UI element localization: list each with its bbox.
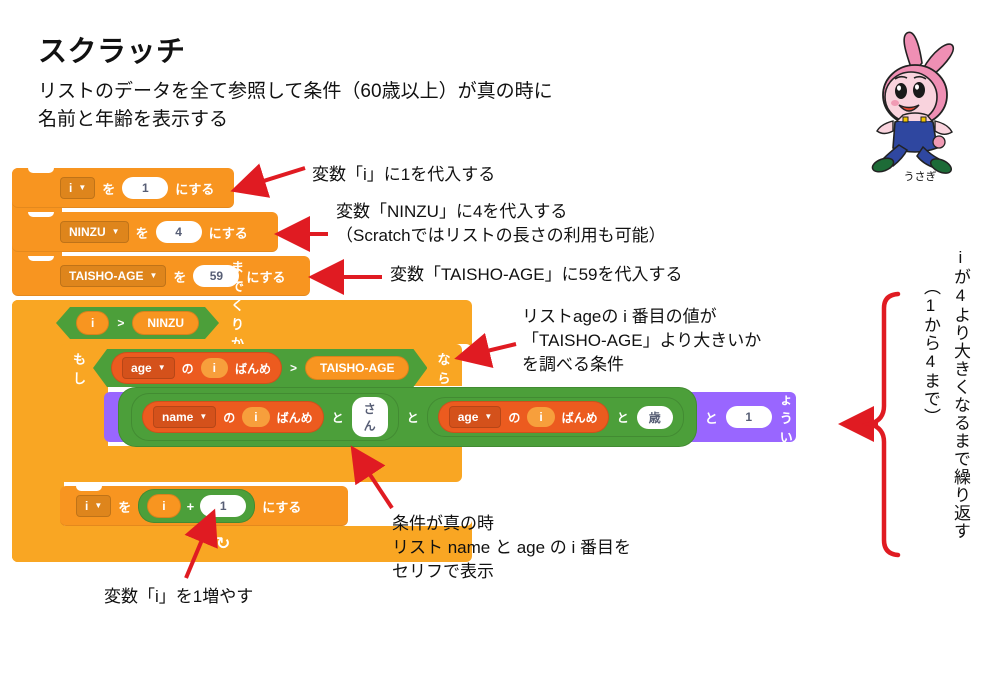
label-banme: ばんめ bbox=[562, 409, 598, 426]
input-text-sai[interactable]: 歳 bbox=[637, 406, 673, 429]
label-no: の bbox=[508, 409, 520, 426]
dropdown-label: age bbox=[458, 410, 479, 424]
operator-add[interactable]: i + 1 bbox=[138, 489, 255, 523]
repeat-until-header: i > NINZU までくりかえす bbox=[56, 306, 251, 340]
dropdown-variable-i[interactable]: i ▼ bbox=[60, 177, 95, 199]
block-set-i-plus-one[interactable]: i ▼ を i + 1 にする bbox=[60, 486, 348, 526]
operator-symbol-plus: + bbox=[187, 499, 195, 514]
dropdown-label: name bbox=[162, 410, 193, 424]
dropdown-label: TAISHO-AGE bbox=[69, 269, 143, 283]
label-wo: を bbox=[102, 179, 115, 198]
chevron-down-icon: ▼ bbox=[149, 272, 157, 280]
label-to: と bbox=[332, 409, 344, 426]
variable-ninzu-oval[interactable]: NINZU bbox=[132, 311, 199, 335]
variable-i-oval[interactable]: i bbox=[76, 311, 109, 335]
mascot-label: うさぎ bbox=[855, 168, 985, 184]
chevron-down-icon: ▼ bbox=[158, 364, 166, 372]
dropdown-label: i bbox=[69, 181, 72, 195]
operator-greater-than-loop[interactable]: i > NINZU bbox=[56, 307, 219, 339]
label-to-outer: と bbox=[705, 408, 718, 427]
label-nisuru: にする bbox=[262, 497, 301, 516]
block-notch bbox=[76, 486, 102, 491]
label-banme: ばんめ bbox=[235, 360, 271, 377]
index-i[interactable]: i bbox=[201, 358, 228, 378]
reporter-list-name-item[interactable]: name ▼ の i ばんめ bbox=[142, 401, 324, 433]
operator-join-inner[interactable]: name ▼ の i ばんめ と さん bbox=[131, 393, 399, 441]
dropdown-list-age[interactable]: age ▼ bbox=[122, 357, 175, 379]
label-wo: を bbox=[136, 223, 149, 242]
input-addend[interactable]: 1 bbox=[200, 495, 246, 517]
input-value-ninzu[interactable]: 4 bbox=[156, 221, 202, 243]
operator-greater-than-condition[interactable]: age ▼ の i ばんめ > TAISHO-AGE bbox=[93, 349, 427, 387]
input-seconds[interactable]: 1 bbox=[726, 406, 772, 428]
block-set-taisho-age[interactable]: TAISHO-AGE ▼ を 59 にする bbox=[12, 256, 310, 296]
annotation-condition: リストageの i 番目の値が 「TAISHO-AGE」より大きいか を調べる条… bbox=[522, 305, 761, 377]
dropdown-variable-ninzu[interactable]: NINZU ▼ bbox=[60, 221, 129, 243]
label-nisuru: にする bbox=[175, 179, 214, 198]
dropdown-list-name[interactable]: name ▼ bbox=[153, 406, 216, 428]
operator-join-age[interactable]: age ▼ の i ばんめ と 歳 bbox=[427, 397, 684, 437]
operator-join-outer[interactable]: name ▼ の i ばんめ と さん と age ▼ bbox=[118, 387, 697, 447]
annotation-set-taisho-age: 変数「TAISHO-AGE」に59を代入する bbox=[390, 263, 683, 287]
block-set-i[interactable]: i ▼ を 1 にする bbox=[12, 168, 234, 208]
page-title: スクラッチ bbox=[38, 28, 186, 70]
if-bottom-bar bbox=[60, 446, 310, 482]
loop-arrow-icon: ↻ bbox=[216, 534, 230, 554]
label-wo: を bbox=[173, 267, 186, 286]
annotation-loop-sub: （1から4まで） bbox=[918, 278, 941, 528]
label-wo: を bbox=[118, 497, 131, 516]
annotation-set-i: 変数「i」に1を代入する bbox=[312, 163, 495, 187]
index-i[interactable]: i bbox=[527, 407, 554, 427]
variable-taisho-age-oval[interactable]: TAISHO-AGE bbox=[305, 356, 409, 380]
dropdown-label: age bbox=[131, 361, 152, 375]
label-nara: なら bbox=[437, 349, 450, 387]
label-nisuru: にする bbox=[246, 267, 285, 286]
chevron-down-icon: ▼ bbox=[94, 502, 102, 510]
label-moshi: もし bbox=[73, 349, 86, 387]
dropdown-label: i bbox=[85, 499, 88, 513]
block-notch bbox=[28, 168, 54, 173]
chevron-down-icon: ▼ bbox=[484, 413, 492, 421]
label-no: の bbox=[223, 409, 235, 426]
arrow-to-set-i bbox=[238, 168, 305, 189]
reporter-list-age-item-2[interactable]: age ▼ の i ばんめ bbox=[438, 401, 609, 433]
input-value-i[interactable]: 1 bbox=[122, 177, 168, 199]
index-i[interactable]: i bbox=[242, 407, 269, 427]
annotation-loop-main: iが4より大きくなるまで繰り返す bbox=[948, 248, 971, 558]
operator-symbol: > bbox=[290, 361, 297, 375]
label-no: の bbox=[182, 360, 194, 377]
slide-root: スクラッチ リストのデータを全て参照して条件（60歳以上）が真の時に 名前と年齢… bbox=[0, 0, 1000, 692]
label-say-seconds: びょういう bbox=[780, 370, 793, 465]
chevron-down-icon: ▼ bbox=[199, 413, 207, 421]
variable-i-oval-2[interactable]: i bbox=[147, 494, 180, 518]
reporter-list-age-item[interactable]: age ▼ の i ばんめ bbox=[111, 352, 282, 384]
label-to: と bbox=[407, 409, 419, 426]
label-banme: ばんめ bbox=[277, 409, 313, 426]
annotation-say: 条件が真の時 リスト name と age の i 番目を セリフで表示 bbox=[392, 512, 631, 584]
block-set-ninzu[interactable]: NINZU ▼ を 4 にする bbox=[12, 212, 278, 252]
dropdown-variable-taisho-age[interactable]: TAISHO-AGE ▼ bbox=[60, 265, 166, 287]
page-subtitle: リストのデータを全て参照して条件（60歳以上）が真の時に 名前と年齢を表示する bbox=[38, 78, 553, 133]
dropdown-list-age-2[interactable]: age ▼ bbox=[449, 406, 502, 428]
if-header: もし age ▼ の i ばんめ > TAISHO-AGE なら bbox=[66, 350, 457, 386]
block-say-for-seconds[interactable]: name ▼ の i ばんめ と さん と age ▼ bbox=[104, 392, 796, 442]
dropdown-variable-i-2[interactable]: i ▼ bbox=[76, 495, 111, 517]
chevron-down-icon: ▼ bbox=[78, 184, 86, 192]
label-nisuru: にする bbox=[209, 223, 248, 242]
chevron-down-icon: ▼ bbox=[112, 228, 120, 236]
rabbit-mascot-icon bbox=[855, 25, 985, 190]
annotation-set-ninzu: 変数「NINZU」に4を代入する （Scratchではリストの長さの利用も可能） bbox=[336, 200, 666, 248]
loop-brace bbox=[870, 294, 898, 555]
annotation-change-i: 変数「i」を1増やす bbox=[104, 585, 253, 609]
block-notch bbox=[28, 212, 54, 217]
block-notch bbox=[28, 256, 54, 261]
operator-symbol: > bbox=[117, 316, 124, 330]
input-text-san[interactable]: さん bbox=[352, 397, 388, 437]
label-to: と bbox=[617, 409, 629, 426]
dropdown-label: NINZU bbox=[69, 225, 106, 239]
